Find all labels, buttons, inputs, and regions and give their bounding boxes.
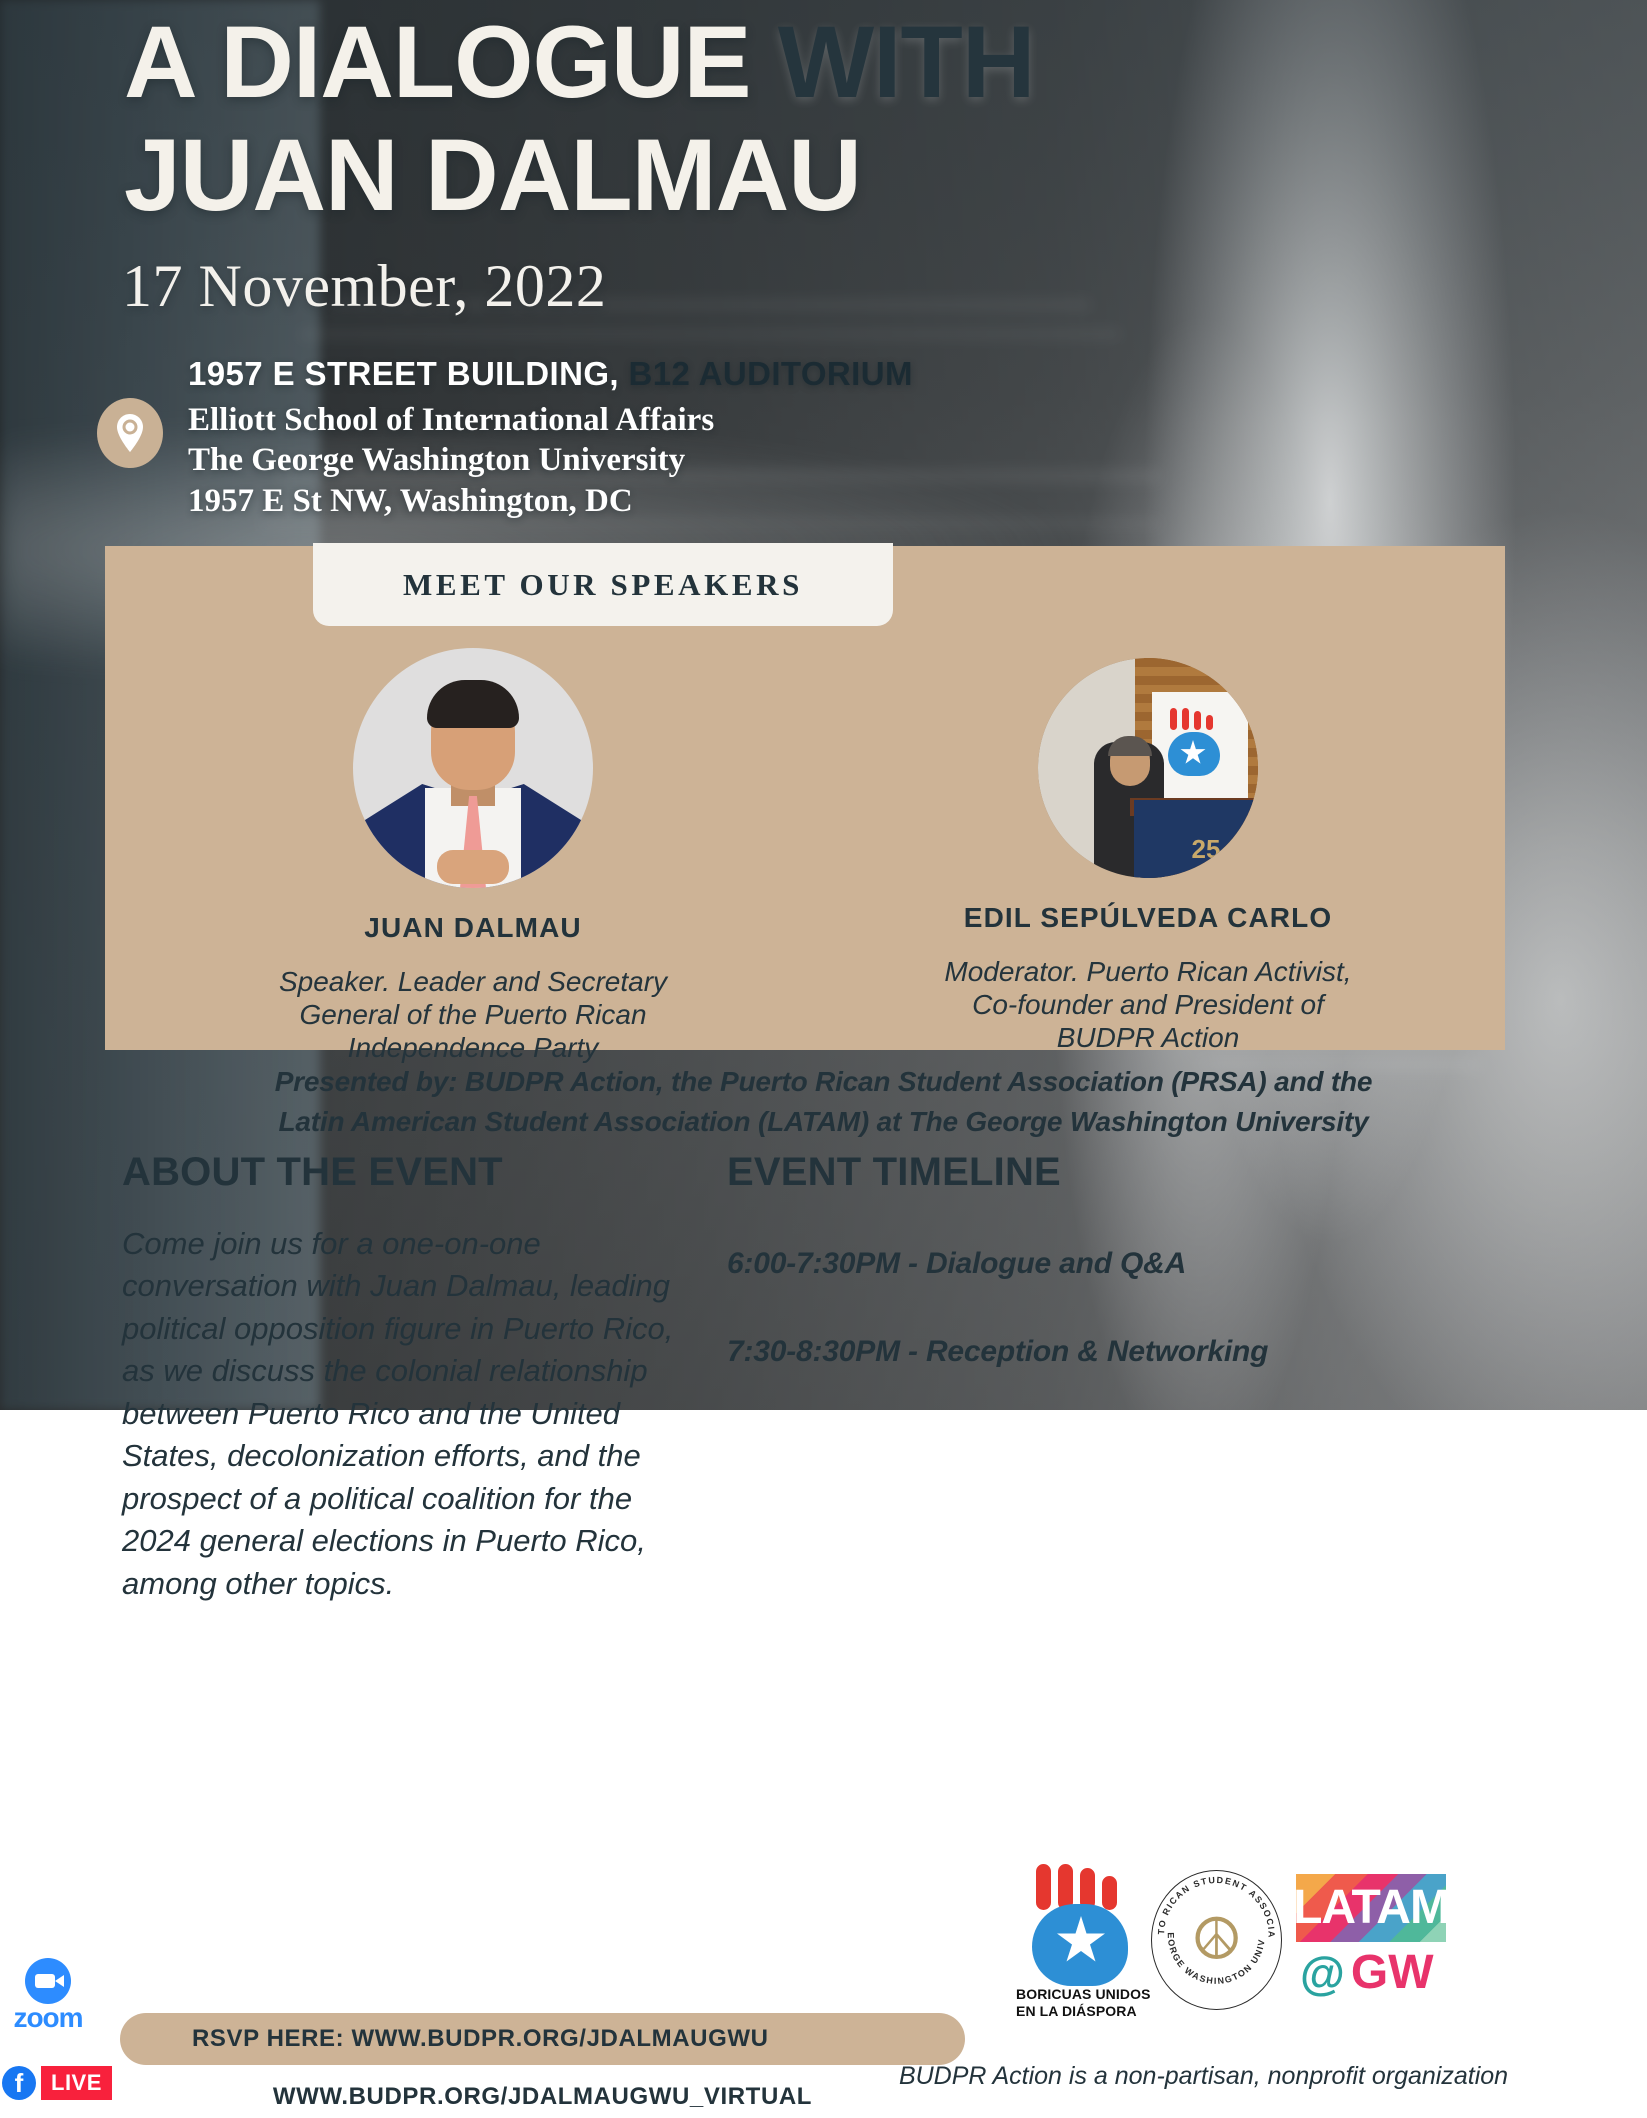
address-line-1: Elliott School of International Affairs [188, 400, 1188, 440]
zoom-camera-icon [25, 1958, 71, 2004]
address-line-2: The George Washington University [188, 440, 1188, 480]
prsa-seal-logo: PUERTO RICAN STUDENT ASSOCIATION THE GEO… [1151, 1870, 1282, 2010]
event-date: 17 November, 2022 [122, 252, 606, 321]
speaker-name: EDIL SEPÚLVEDA CARLO [964, 902, 1332, 934]
presented-by-line-1: Presented by: BUDPR Action, the Puerto R… [0, 1062, 1647, 1102]
timeline-heading: EVENT TIMELINE [727, 1150, 1427, 1195]
map-pin-icon [97, 398, 163, 468]
budpr-logo-line-2: EN LA DIÁSPORA [1016, 2003, 1152, 2020]
speakers-banner: MEET OUR SPEAKERS [313, 543, 893, 626]
virtual-url-link[interactable]: WWW.BUDPR.ORG/JDALMAUGWU_VIRTUAL [120, 2083, 965, 2111]
speaker-bio: Speaker. Leader and Secretary General of… [253, 966, 693, 1064]
budpr-logo-text: BORICUAS UNIDOS EN LA DIÁSPORA [1016, 1986, 1152, 2019]
timeline-item: 7:30-8:30PM - Reception & Networking [727, 1335, 1427, 1369]
rsvp-button[interactable]: RSVP HERE: WWW.BUDPR.ORG/JDALMAUGWU [120, 2013, 965, 2065]
address-block: 1957 E STREET BUILDING, B12 AUDITORIUM E… [188, 355, 1188, 521]
zoom-label: zoom [6, 2002, 90, 2034]
facebook-live-badge[interactable]: f LIVE [2, 2066, 112, 2100]
title-line-2: JUAN DALMAU [124, 119, 1544, 232]
speakers-panel: MEET OUR SPEAKERS JUAN DALMAU Spea [105, 546, 1505, 1050]
zoom-badge[interactable]: zoom [6, 1958, 90, 2034]
about-heading: ABOUT THE EVENT [122, 1150, 692, 1195]
latam-at-symbol: @ [1300, 1950, 1345, 1996]
speaker-bio: Moderator. Puerto Rican Activist, Co-fou… [928, 956, 1368, 1054]
latam-at-gw-logo: LATAM @ GW [1296, 1868, 1436, 2010]
latam-gw-word: GW [1351, 1949, 1434, 1997]
presented-by-line-2: Latin American Student Association (LATA… [0, 1102, 1647, 1142]
about-column: ABOUT THE EVENT Come join us for a one-o… [122, 1150, 692, 1605]
live-label: LIVE [41, 2066, 112, 2100]
speaker-card-2: 25 EDIL SEPÚLVEDA CARLO Moderator. Puert… [805, 648, 1505, 1064]
venue-line: 1957 E STREET BUILDING, B12 AUDITORIUM [188, 355, 1188, 393]
juan-dalmau-portrait [353, 648, 593, 888]
presented-by: Presented by: BUDPR Action, the Puerto R… [0, 1062, 1647, 1142]
partner-logos: BORICUAS UNIDOS EN LA DIÁSPORA PUERTO RI… [1016, 1860, 1436, 2010]
budpr-logo-line-1: BORICUAS UNIDOS [1016, 1986, 1152, 2003]
latam-logo-word: LATAM [1293, 1884, 1449, 1932]
speaker-name: JUAN DALMAU [364, 912, 581, 944]
address-line-3: 1957 E St NW, Washington, DC [188, 481, 1188, 521]
page-title: A DIALOGUE WITH JUAN DALMAU [124, 6, 1544, 232]
rsvp-label: RSVP HERE: WWW.BUDPR.ORG/JDALMAUGWU [192, 2025, 769, 2053]
timeline-item: 6:00-7:30PM - Dialogue and Q&A [727, 1247, 1427, 1281]
title-part-2: WITH [778, 5, 1035, 119]
venue-room: B12 AUDITORIUM [629, 355, 913, 392]
speakers-grid: JUAN DALMAU Speaker. Leader and Secretar… [105, 648, 1505, 1064]
title-part-1: A DIALOGUE [124, 5, 778, 119]
facebook-icon: f [2, 2066, 36, 2100]
coqui-taino-symbol: ☮ [1185, 1903, 1249, 1977]
speakers-banner-label: MEET OUR SPEAKERS [403, 567, 803, 603]
timeline-column: EVENT TIMELINE 6:00-7:30PM - Dialogue an… [727, 1150, 1427, 1369]
speaker-card-1: JUAN DALMAU Speaker. Leader and Secretar… [105, 648, 805, 1064]
venue-building: 1957 E STREET BUILDING, [188, 355, 629, 392]
budpr-logo: BORICUAS UNIDOS EN LA DIÁSPORA [1016, 1864, 1137, 2010]
edil-sepulveda-podium-photo: 25 [1038, 658, 1258, 878]
about-body-text: Come join us for a one-on-one conversati… [122, 1223, 692, 1605]
